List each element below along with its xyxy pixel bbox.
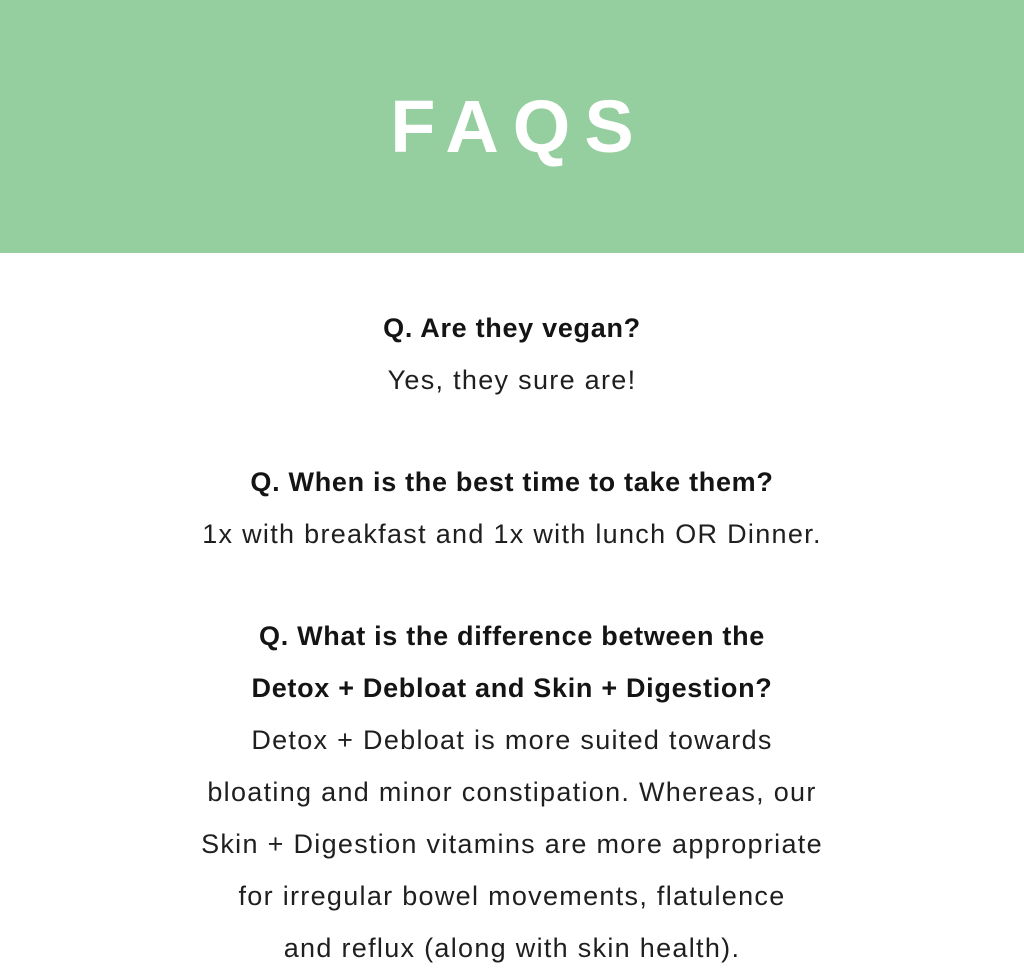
faq-answer-line: and reflux (along with skin health). [0, 922, 1024, 974]
faq-answer: Detox + Debloat is more suited towards b… [0, 714, 1024, 974]
faq-list: Q. Are they vegan? Yes, they sure are! Q… [0, 253, 1024, 974]
faq-answer-line: Skin + Digestion vitamins are more appro… [0, 818, 1024, 870]
faq-item: Q. What is the difference between the De… [0, 560, 1024, 974]
faq-answer-line: Detox + Debloat is more suited towards [0, 714, 1024, 766]
faq-answer-line: Yes, they sure are! [0, 354, 1024, 406]
page-title: FAQS [376, 90, 647, 164]
faq-answer: Yes, they sure are! [0, 354, 1024, 406]
faq-question: Q. Are they vegan? [0, 302, 1024, 354]
faq-question-line: Q. Are they vegan? [0, 302, 1024, 354]
faq-question-line: Q. When is the best time to take them? [0, 456, 1024, 508]
faq-question-line: Q. What is the difference between the [0, 610, 1024, 662]
faq-answer-line: bloating and minor constipation. Whereas… [0, 766, 1024, 818]
faq-question: Q. What is the difference between the De… [0, 610, 1024, 714]
faq-answer-line: for irregular bowel movements, flatulenc… [0, 870, 1024, 922]
header-banner: FAQS [0, 0, 1024, 253]
faq-question: Q. When is the best time to take them? [0, 456, 1024, 508]
faq-answer-line: 1x with breakfast and 1x with lunch OR D… [0, 508, 1024, 560]
faq-item: Q. Are they vegan? Yes, they sure are! [0, 253, 1024, 406]
faq-answer: 1x with breakfast and 1x with lunch OR D… [0, 508, 1024, 560]
faq-question-line: Detox + Debloat and Skin + Digestion? [0, 662, 1024, 714]
faq-page: FAQS Q. Are they vegan? Yes, they sure a… [0, 0, 1024, 956]
faq-item: Q. When is the best time to take them? 1… [0, 406, 1024, 560]
